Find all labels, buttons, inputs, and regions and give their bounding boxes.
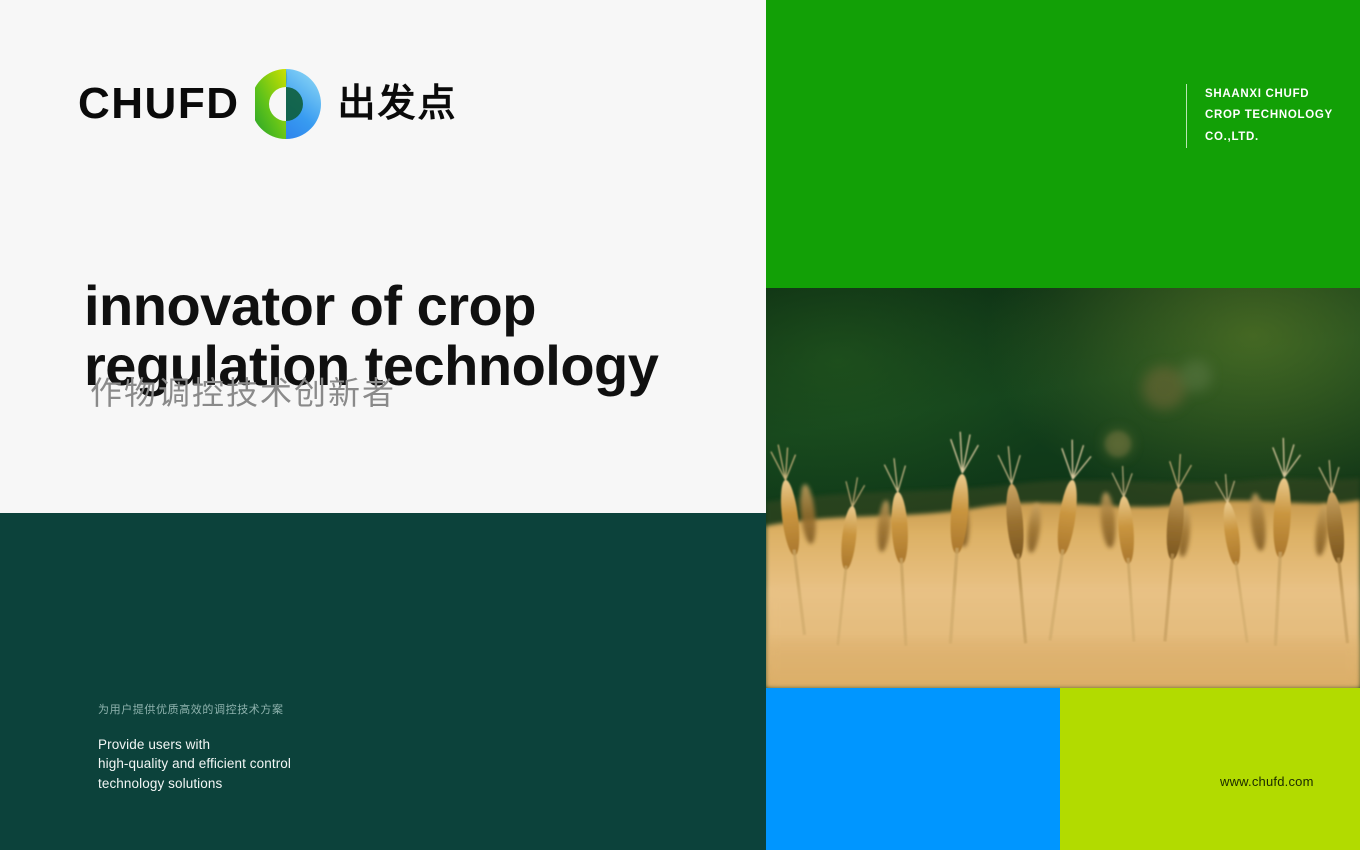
- logo-lockup[interactable]: CHUFD: [78, 66, 458, 142]
- headline-line-1: innovator of crop: [84, 276, 724, 336]
- right-column: SHAANXI CHUFD CROP TECHNOLOGY CO.,LTD.: [766, 0, 1360, 850]
- wheat-field-photo: [766, 288, 1360, 688]
- left-column: CHUFD: [0, 0, 766, 850]
- swatch-lime: www.chufd.com: [1060, 688, 1360, 850]
- website-url[interactable]: www.chufd.com: [1220, 774, 1314, 789]
- tagline-english-line-3: technology solutions: [98, 774, 291, 794]
- company-name-line-1: SHAANXI CHUFD: [1205, 84, 1333, 105]
- company-name-block: SHAANXI CHUFD CROP TECHNOLOGY CO.,LTD.: [1186, 84, 1333, 148]
- chufd-logo-mark-icon: [255, 59, 323, 149]
- logo-wordmark-chinese: 出发点: [337, 85, 457, 123]
- logo-wordmark: CHUFD: [78, 82, 239, 126]
- left-lower-dark-panel: [0, 513, 766, 850]
- tagline-english-line-2: high-quality and efficient control: [98, 754, 291, 774]
- company-name-line-3: CO.,LTD.: [1205, 127, 1333, 148]
- tagline-block: 为用户提供优质高效的调控技术方案 Provide users with high…: [98, 702, 291, 793]
- brand-cover-poster: CHUFD: [0, 0, 1360, 850]
- green-header-panel: SHAANXI CHUFD CROP TECHNOLOGY CO.,LTD.: [766, 0, 1360, 288]
- company-name-line-2: CROP TECHNOLOGY: [1205, 105, 1333, 126]
- tagline-chinese: 为用户提供优质高效的调控技术方案: [98, 702, 291, 719]
- tagline-english: Provide users with high-quality and effi…: [98, 735, 291, 794]
- swatch-blue: [766, 688, 1060, 850]
- tagline-english-line-1: Provide users with: [98, 735, 291, 755]
- page-subtitle-chinese: 作物调控技术创新者: [90, 374, 396, 412]
